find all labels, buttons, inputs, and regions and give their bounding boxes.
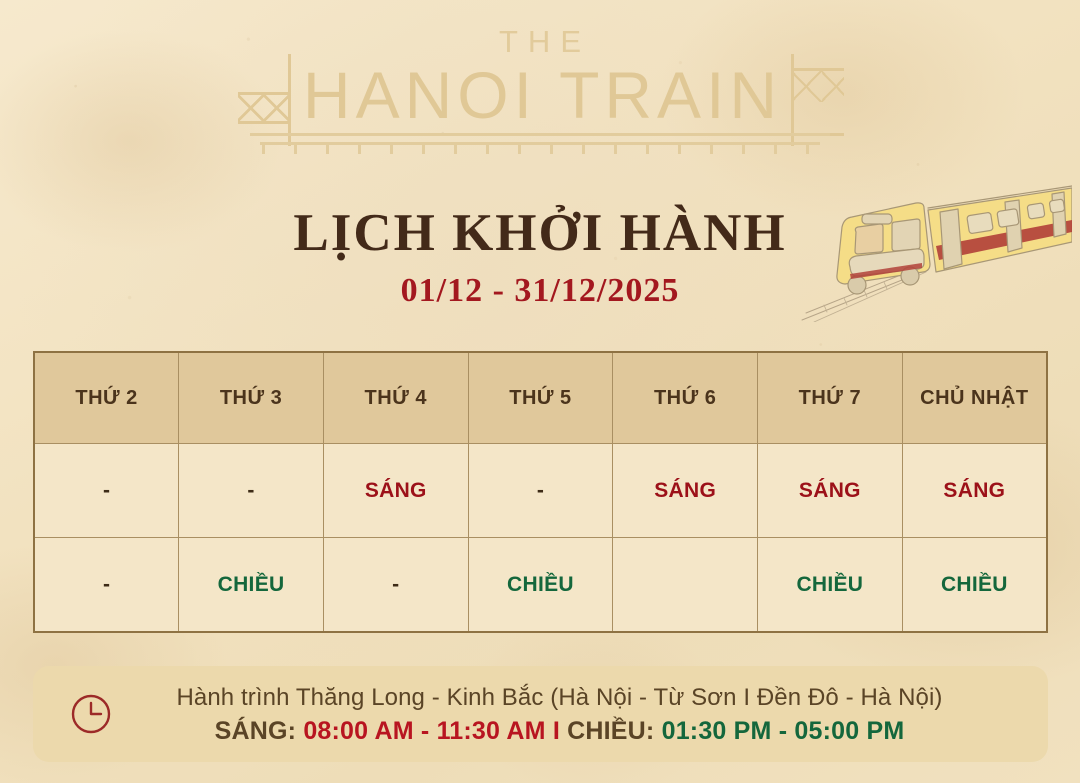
rail-bar-top bbox=[250, 133, 830, 136]
page-title: LỊCH KHỞI HÀNH bbox=[0, 203, 1080, 263]
table-row: - CHIỀU - CHIỀU CHIỀU CHIỀU bbox=[34, 538, 1047, 633]
bridge-truss-icon bbox=[238, 92, 290, 124]
column-header-mon: THỨ 2 bbox=[34, 352, 179, 444]
cell-afternoon-tue: CHIỀU bbox=[179, 538, 324, 633]
cell-afternoon-sat: CHIỀU bbox=[758, 538, 903, 633]
bridge-truss-right-icon bbox=[792, 68, 844, 136]
cell-afternoon-sun: CHIỀU bbox=[902, 538, 1047, 633]
railway-track-icon bbox=[250, 133, 830, 151]
logo-name-text: HANOI TRAIN bbox=[303, 58, 782, 132]
route-info-text: Hành trình Thăng Long - Kinh Bắc (Hà Nội… bbox=[127, 683, 1026, 746]
hours-separator: I bbox=[553, 717, 560, 745]
logo-the-text: THE bbox=[0, 24, 1080, 60]
table-row: - - SÁNG - SÁNG SÁNG SÁNG bbox=[34, 444, 1047, 538]
afternoon-label: CHIỀU: bbox=[567, 717, 654, 745]
logo-wordmark: HANOI TRAIN bbox=[252, 62, 828, 129]
rail-ties bbox=[262, 145, 818, 154]
clock-icon bbox=[69, 692, 113, 736]
cell-morning-sat: SÁNG bbox=[758, 444, 903, 538]
route-info-panel: Hành trình Thăng Long - Kinh Bắc (Hà Nội… bbox=[33, 666, 1048, 762]
afternoon-hours: 01:30 PM - 05:00 PM bbox=[662, 717, 905, 745]
poster-canvas: THE HANOI TRAIN LỊCH KHỞI HÀNH 01/12 - 3… bbox=[0, 0, 1080, 783]
morning-label: SÁNG: bbox=[215, 717, 297, 745]
column-header-sat: THỨ 7 bbox=[758, 352, 903, 444]
cell-afternoon-mon: - bbox=[34, 538, 179, 633]
cell-morning-sun: SÁNG bbox=[902, 444, 1047, 538]
table-header-row: THỨ 2 THỨ 3 THỨ 4 THỨ 5 THỨ 6 THỨ 7 CHỦ … bbox=[34, 352, 1047, 444]
cell-morning-mon: - bbox=[34, 444, 179, 538]
column-header-fri: THỨ 6 bbox=[613, 352, 758, 444]
departure-schedule-table: THỨ 2 THỨ 3 THỨ 4 THỨ 5 THỨ 6 THỨ 7 CHỦ … bbox=[33, 351, 1048, 633]
column-header-thu: THỨ 5 bbox=[468, 352, 613, 444]
morning-hours: 08:00 AM - 11:30 AM bbox=[303, 717, 545, 745]
cell-afternoon-thu: CHIỀU bbox=[468, 538, 613, 633]
operating-hours: SÁNG: 08:00 AM - 11:30 AM I CHIỀU: 01:30… bbox=[127, 716, 992, 746]
cell-morning-thu: - bbox=[468, 444, 613, 538]
column-header-tue: THỨ 3 bbox=[179, 352, 324, 444]
cell-afternoon-fri bbox=[613, 538, 758, 633]
column-header-wed: THỨ 4 bbox=[323, 352, 468, 444]
cell-morning-fri: SÁNG bbox=[613, 444, 758, 538]
cell-morning-tue: - bbox=[179, 444, 324, 538]
cell-morning-wed: SÁNG bbox=[323, 444, 468, 538]
brand-logo: THE HANOI TRAIN bbox=[0, 24, 1080, 151]
column-header-sun: CHỦ NHẬT bbox=[902, 352, 1047, 444]
date-range: 01/12 - 31/12/2025 bbox=[0, 272, 1080, 310]
route-description: Hành trình Thăng Long - Kinh Bắc (Hà Nội… bbox=[127, 683, 992, 713]
cell-afternoon-wed: - bbox=[323, 538, 468, 633]
